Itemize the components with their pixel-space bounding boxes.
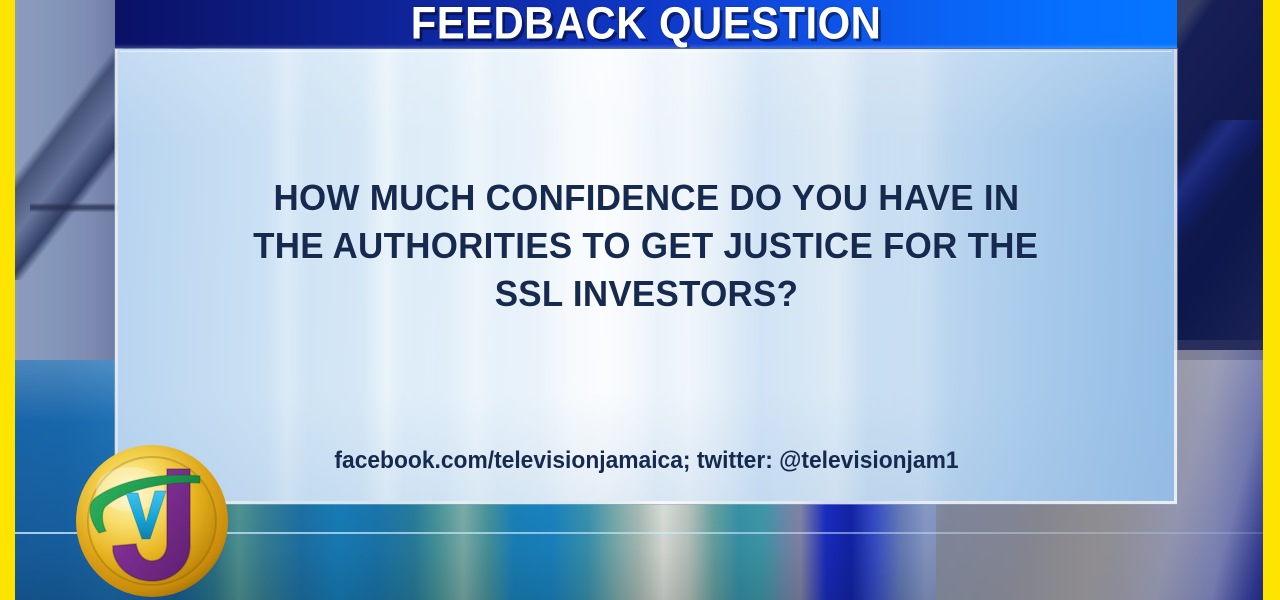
question-panel: HOW MUCH CONFIDENCE DO YOU HAVE IN THE A… bbox=[115, 49, 1177, 504]
social-handles: facebook.com/televisionjamaica; twitter:… bbox=[118, 447, 1174, 475]
broadcast-screen: FEEDBACK QUESTION HOW MUCH CONFIDENCE DO… bbox=[0, 0, 1280, 600]
feedback-question-text: HOW MUCH CONFIDENCE DO YOU HAVE IN THE A… bbox=[118, 174, 1174, 318]
panel-inner-highlight bbox=[120, 51, 1172, 52]
question-line-2: THE AUTHORITIES TO GET JUSTICE FOR THE bbox=[158, 222, 1134, 270]
banner-title: FEEDBACK QUESTION bbox=[115, 1, 1177, 46]
social-handles-text: facebook.com/televisionjamaica; twitter:… bbox=[334, 447, 958, 475]
question-line-1: HOW MUCH CONFIDENCE DO YOU HAVE IN bbox=[158, 174, 1134, 222]
banner-title-text: FEEDBACK QUESTION bbox=[411, 1, 882, 46]
question-line-1-text: HOW MUCH CONFIDENCE DO YOU HAVE IN bbox=[273, 174, 1019, 222]
banner-bar: FEEDBACK QUESTION bbox=[115, 0, 1177, 48]
border-yellow-right bbox=[1263, 0, 1280, 600]
question-line-3: SSL INVESTORS? bbox=[158, 270, 1134, 318]
tvj-logo bbox=[72, 441, 232, 600]
tvj-logo-graphic bbox=[72, 441, 232, 600]
question-line-3-text: SSL INVESTORS? bbox=[494, 270, 798, 318]
border-yellow-left bbox=[0, 0, 15, 600]
question-line-2-text: THE AUTHORITIES TO GET JUSTICE FOR THE bbox=[253, 222, 1038, 270]
